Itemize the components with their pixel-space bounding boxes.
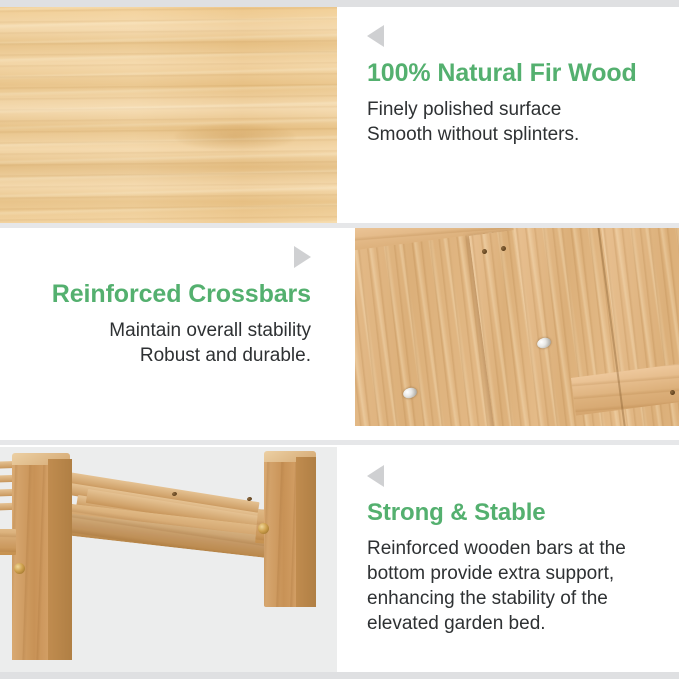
- feature-headline: Strong & Stable: [367, 499, 657, 527]
- feature-row-reinforced-crossbars: Reinforced Crossbars Maintain overall st…: [0, 228, 679, 440]
- feature-infographic: 100% Natural Fir Wood Finely polished su…: [0, 0, 679, 679]
- feature-description: Reinforced wooden bars at the bottom pro…: [367, 536, 657, 636]
- row-divider: [0, 440, 679, 445]
- feature-text-natural-fir-wood: 100% Natural Fir Wood Finely polished su…: [341, 7, 679, 223]
- plank-assembly-scene: [341, 228, 679, 440]
- description-line: Robust and durable.: [22, 343, 311, 368]
- bottom-edge-strip: [0, 672, 679, 679]
- bed-leg-left-inner-face: [48, 459, 72, 671]
- product-photo-wood-board: [0, 7, 337, 223]
- description-line: enhancing the stability of the: [367, 586, 657, 611]
- triangle-left-icon: [367, 465, 384, 487]
- description-line: Finely polished surface: [367, 97, 657, 122]
- product-photo-legs-crossbar: [0, 447, 337, 672]
- feature-headline: 100% Natural Fir Wood: [367, 59, 657, 88]
- bed-leg-right-inner-face: [296, 457, 316, 607]
- brass-screw: [258, 523, 269, 534]
- feature-text-reinforced-crossbars: Reinforced Crossbars Maintain overall st…: [0, 228, 337, 440]
- feature-text-strong-and-stable: Strong & Stable Reinforced wooden bars a…: [341, 447, 679, 672]
- feature-row-natural-fir-wood: 100% Natural Fir Wood Finely polished su…: [0, 7, 679, 223]
- triangle-right-icon: [294, 246, 311, 268]
- description-line: Reinforced wooden bars at the: [367, 536, 657, 561]
- description-line: Smooth without splinters.: [367, 122, 657, 147]
- brass-screw: [14, 563, 25, 574]
- feature-description: Maintain overall stability Robust and du…: [22, 318, 311, 368]
- description-line: bottom provide extra support,: [367, 561, 657, 586]
- feature-row-strong-and-stable: Strong & Stable Reinforced wooden bars a…: [0, 447, 679, 672]
- product-photo-plank-screws: [341, 228, 679, 440]
- feature-description: Finely polished surface Smooth without s…: [367, 97, 657, 147]
- bed-frame-scene: [0, 447, 337, 672]
- top-edge-strip: [0, 0, 679, 7]
- description-line: Maintain overall stability: [22, 318, 311, 343]
- rear-rail-stub: [0, 529, 16, 555]
- wood-grain-texture: [0, 7, 337, 223]
- feature-headline: Reinforced Crossbars: [22, 280, 311, 309]
- triangle-left-icon: [367, 25, 384, 47]
- description-line: elevated garden bed.: [367, 611, 657, 636]
